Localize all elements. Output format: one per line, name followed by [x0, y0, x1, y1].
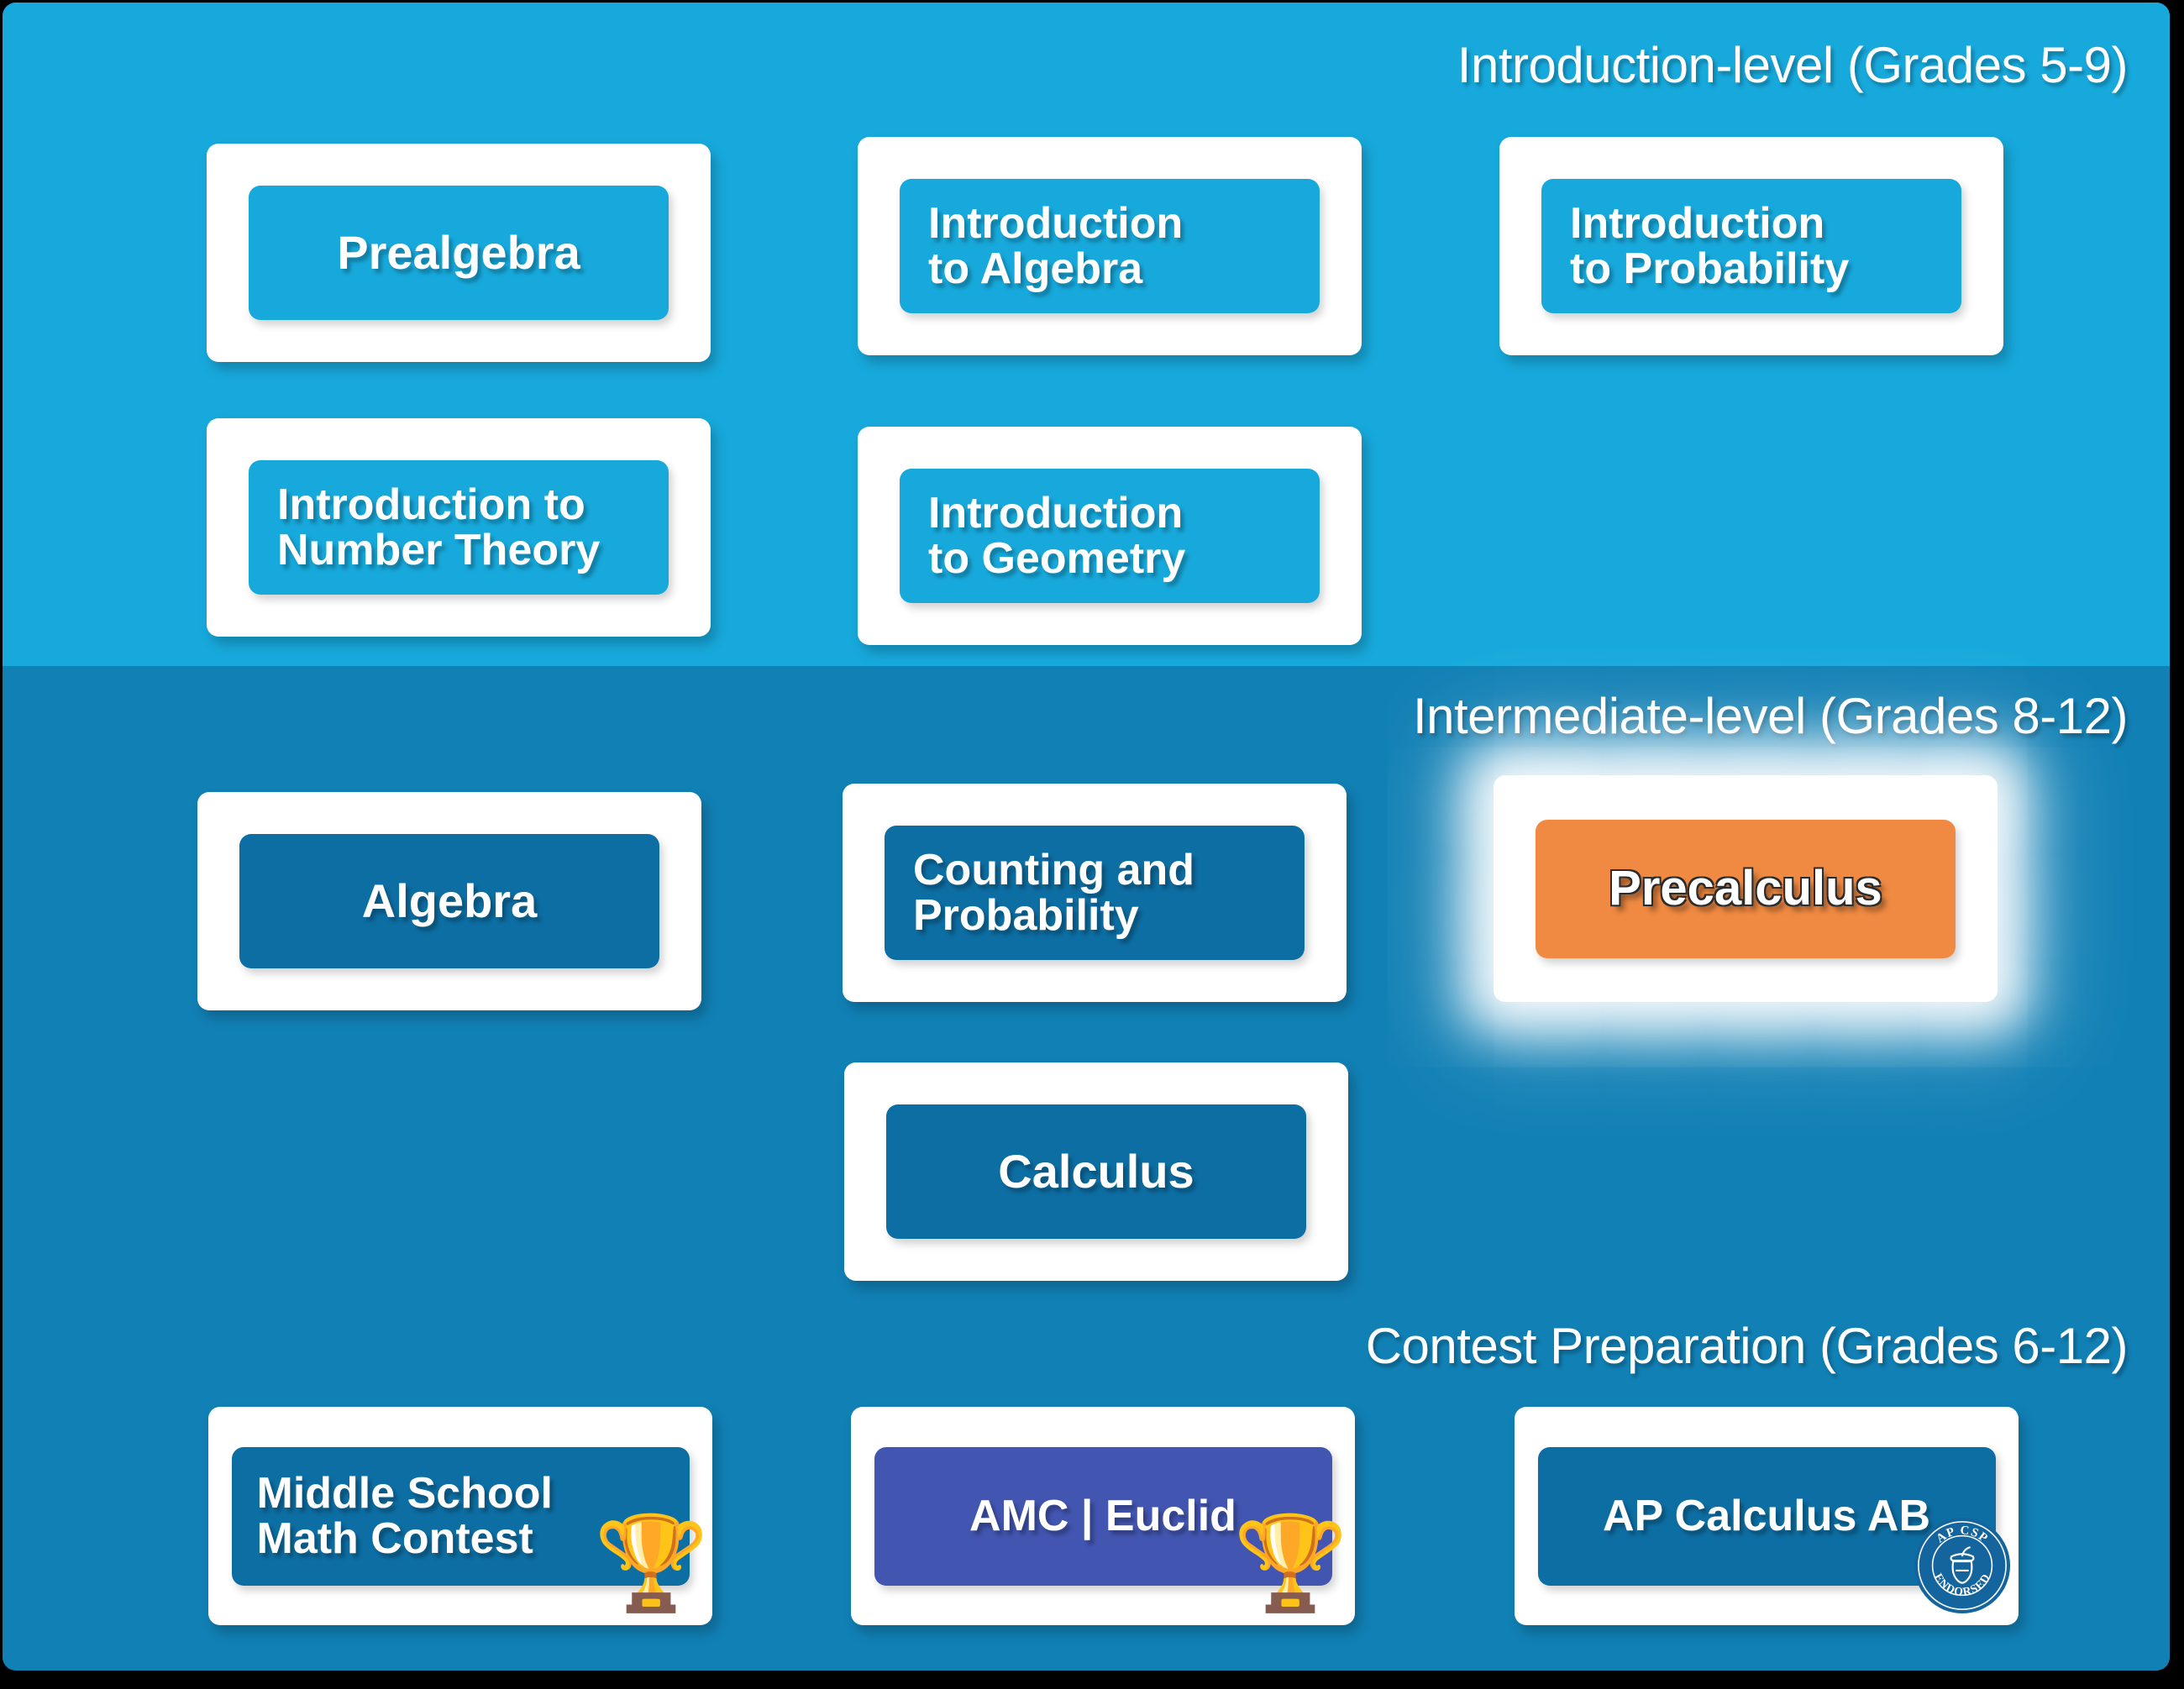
course-label: Counting and Probability	[913, 847, 1194, 938]
course-card-algebra[interactable]: Algebra	[197, 792, 701, 1010]
course-chip-precalculus[interactable]: Precalculus	[1536, 820, 1956, 958]
course-card-calculus[interactable]: Calculus	[844, 1062, 1348, 1281]
course-chip-introduction-to-algebra[interactable]: Introduction to Algebra	[900, 179, 1320, 313]
course-chip-prealgebra[interactable]: Prealgebra	[249, 186, 669, 320]
intermediate-level-heading: Intermediate-level (Grades 8-12)	[1413, 687, 2128, 745]
course-label: Calculus	[998, 1147, 1194, 1196]
course-label: Middle School Math Contest	[257, 1471, 553, 1561]
course-label: Introduction to Probability	[1570, 201, 1849, 291]
course-card-introduction-to-number-theory[interactable]: Introduction to Number Theory	[207, 418, 711, 637]
course-card-precalculus-highlighted[interactable]: Precalculus	[1494, 775, 1998, 1002]
introduction-level-heading: Introduction-level (Grades 5-9)	[1457, 36, 2128, 94]
course-label: Introduction to Number Theory	[277, 482, 600, 573]
course-card-introduction-to-probability[interactable]: Introduction to Probability	[1499, 137, 2003, 355]
course-card-introduction-to-geometry[interactable]: Introduction to Geometry	[858, 427, 1362, 645]
course-chip-amc-euclid[interactable]: AMC | Euclid	[874, 1447, 1332, 1586]
ap-csp-endorsed-badge-icon: AP CSP ENDORSED	[1913, 1516, 2012, 1615]
course-label: AMC | Euclid	[969, 1493, 1236, 1539]
course-label: AP Calculus AB	[1603, 1493, 1930, 1539]
course-chip-introduction-to-probability[interactable]: Introduction to Probability	[1541, 179, 1961, 313]
course-card-amc-euclid[interactable]: AMC | Euclid 🏆	[851, 1407, 1355, 1625]
course-card-ap-calculus-ab[interactable]: AP Calculus AB AP CSP ENDORSED	[1515, 1407, 2019, 1625]
course-chip-introduction-to-number-theory[interactable]: Introduction to Number Theory	[249, 460, 669, 595]
course-card-introduction-to-algebra[interactable]: Introduction to Algebra	[858, 137, 1362, 355]
course-label: Introduction to Algebra	[928, 201, 1183, 291]
course-chip-introduction-to-geometry[interactable]: Introduction to Geometry	[900, 469, 1320, 603]
course-chip-algebra[interactable]: Algebra	[239, 834, 659, 968]
course-chip-calculus[interactable]: Calculus	[886, 1104, 1306, 1239]
course-label: Prealgebra	[337, 228, 580, 277]
course-roadmap-panel: Introduction-level (Grades 5-9) Intermed…	[3, 3, 2170, 1671]
course-card-middle-school-math-contest[interactable]: Middle School Math Contest 🏆	[208, 1407, 712, 1625]
course-label: Algebra	[362, 877, 538, 926]
course-chip-counting-and-probability[interactable]: Counting and Probability	[885, 826, 1305, 960]
contest-preparation-heading: Contest Preparation (Grades 6-12)	[1366, 1317, 2128, 1375]
course-label: Introduction to Geometry	[928, 490, 1185, 581]
course-label: Precalculus	[1609, 863, 1882, 914]
course-card-counting-and-probability[interactable]: Counting and Probability	[843, 784, 1347, 1002]
course-chip-middle-school-math-contest[interactable]: Middle School Math Contest	[232, 1447, 690, 1586]
course-card-prealgebra[interactable]: Prealgebra	[207, 144, 711, 362]
